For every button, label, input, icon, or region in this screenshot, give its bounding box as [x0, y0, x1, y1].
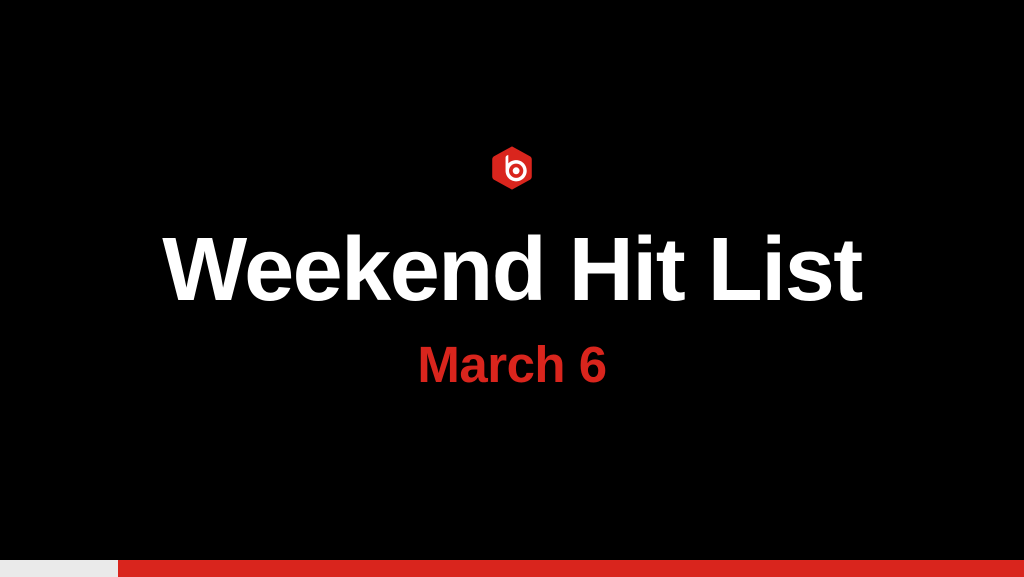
progress-remaining-segment	[118, 560, 1024, 577]
page-title: Weekend Hit List	[162, 225, 861, 315]
slide-progress-bar[interactable]	[0, 560, 1024, 577]
progress-elapsed-segment	[0, 560, 118, 577]
beats-logo-icon	[489, 145, 535, 191]
presentation-slide: Weekend Hit List March 6	[0, 0, 1024, 577]
slide-date-subtitle: March 6	[417, 339, 606, 390]
slide-hero-content: Weekend Hit List March 6	[0, 0, 1024, 560]
